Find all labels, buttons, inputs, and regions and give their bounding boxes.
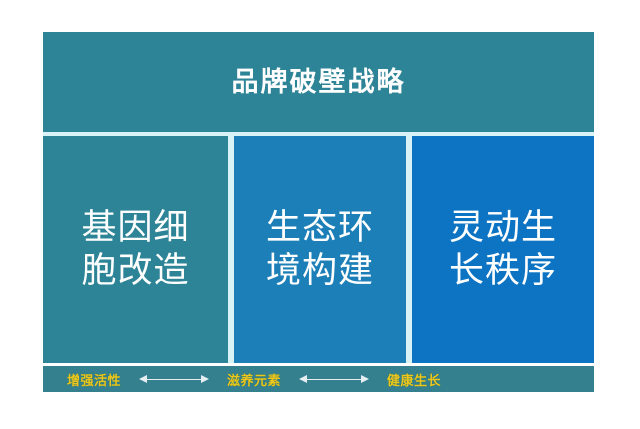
arrow-shaft [146,379,202,380]
pillar-label-2: 生态环境构建 [262,207,378,292]
pillar-column-2[interactable]: 生态环境构建 [234,136,406,363]
pillar-label-3: 灵动生长秩序 [445,207,561,292]
page-title: 品牌破壁战略 [232,69,406,96]
strategy-diagram: 品牌破壁战略 基因细胞改造 生态环境构建 灵动生长秩序 [43,32,594,363]
relationship-label-3: 健康生长 [387,370,441,389]
arrow-shaft-2 [306,379,362,380]
relationship-label-2: 滋养元素 [227,370,281,389]
relationship-item-2: 滋养元素 [227,366,281,392]
pillar-column-1[interactable]: 基因细胞改造 [43,136,228,363]
arrow-head-right-icon [201,375,209,383]
slide-canvas: 品牌破壁战略 基因细胞改造 生态环境构建 灵动生长秩序 增强活性 [0,0,640,429]
pillar-column-3[interactable]: 灵动生长秩序 [412,136,594,363]
relationship-label-1: 增强活性 [67,370,121,389]
arrow-head-right-icon-2 [361,375,369,383]
diagram-header: 品牌破壁战略 [43,32,594,132]
double-headed-arrow-icon [139,373,209,386]
relationship-bar: 增强活性 滋养元素 健康生长 [43,366,594,392]
relationship-item-3: 健康生长 [387,366,441,392]
double-headed-arrow-icon-2 [299,373,369,386]
pillar-columns: 基因细胞改造 生态环境构建 灵动生长秩序 [43,136,594,363]
pillar-label-1: 基因细胞改造 [78,207,194,292]
relationship-item-1: 增强活性 [67,366,121,392]
